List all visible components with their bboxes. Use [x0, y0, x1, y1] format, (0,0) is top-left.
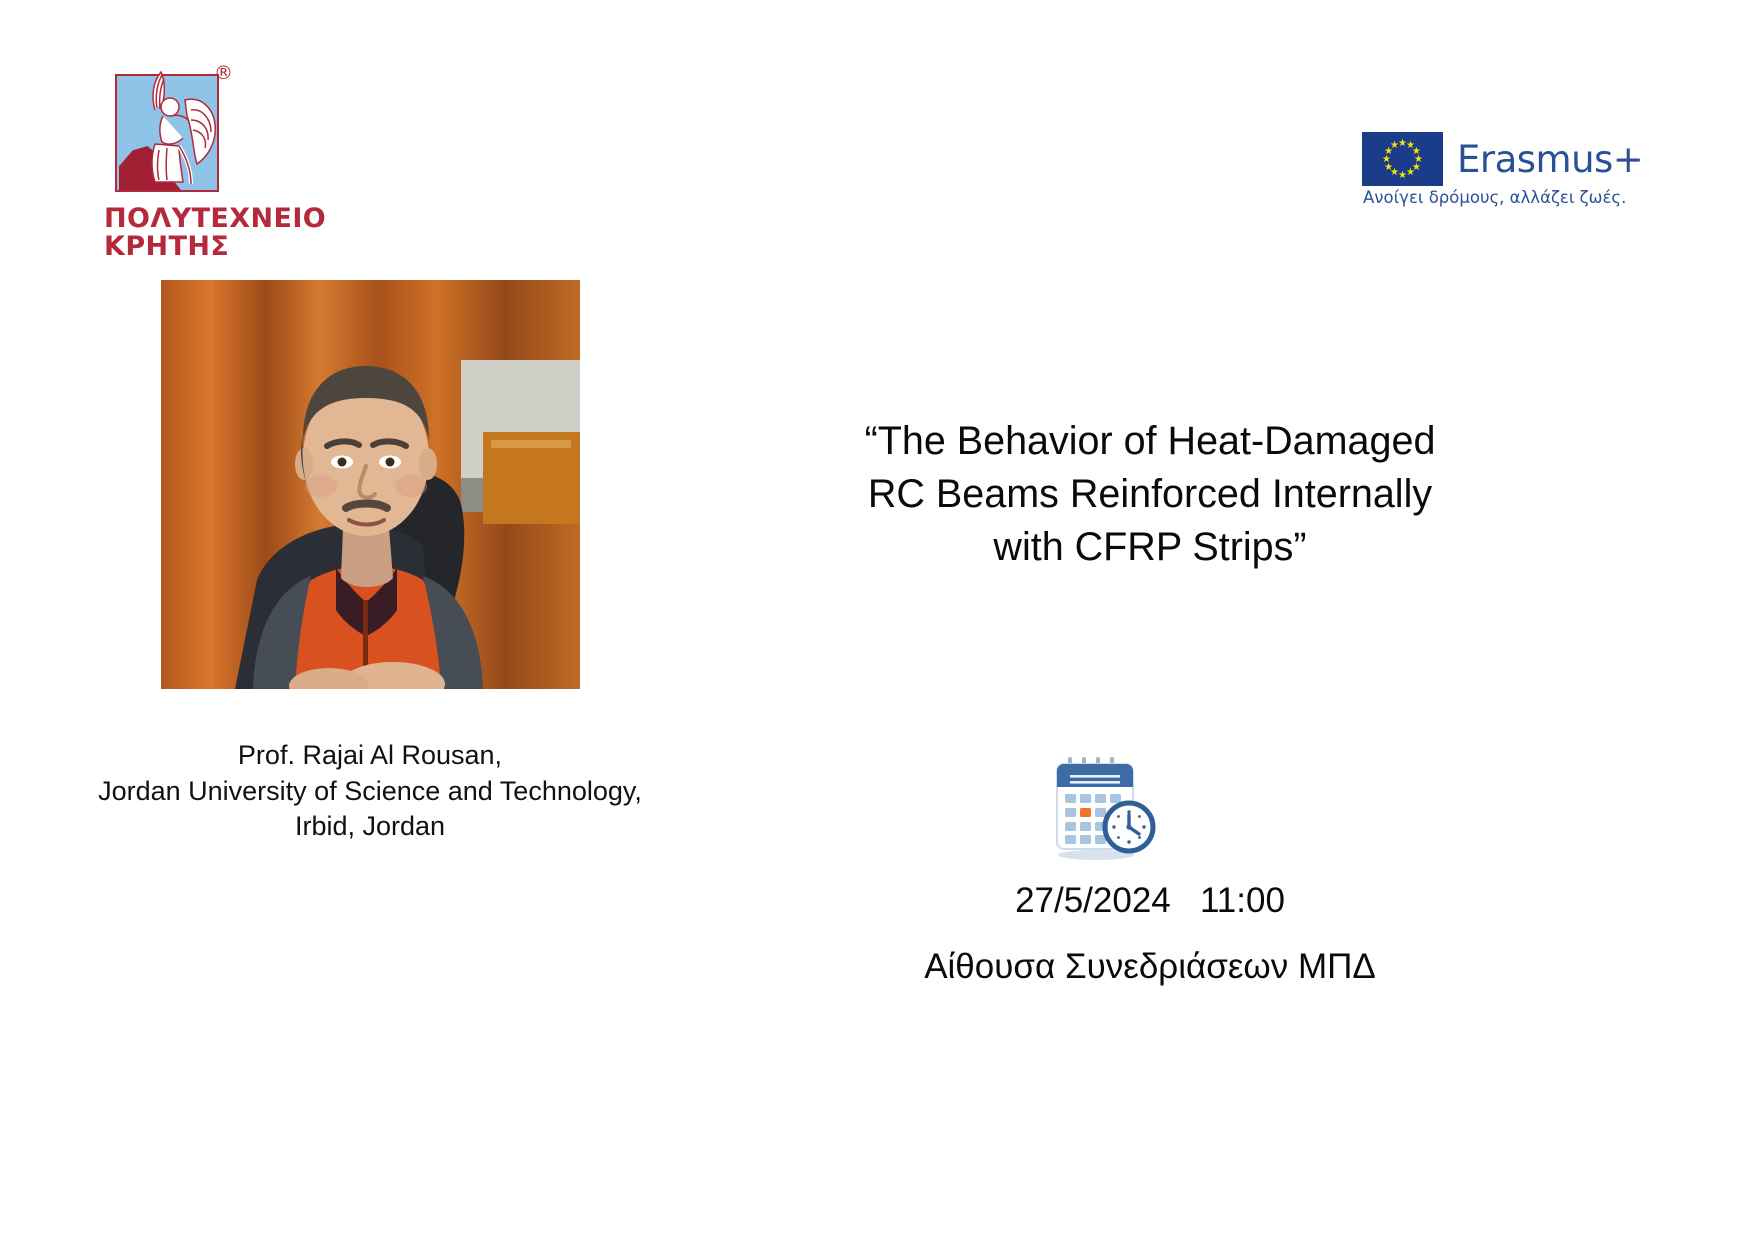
calendar-clock-icon	[1044, 755, 1160, 863]
speaker-caption: Prof. Rajai Al Rousan, Jordan University…	[40, 738, 700, 845]
university-name: ΠΟΛΥΤΕΧΝΕΙΟ ΚΡΗΤΗΣ	[104, 205, 330, 260]
daedalus-emblem-icon: ®	[115, 62, 225, 192]
eu-star-icon: ★	[1398, 171, 1407, 180]
talk-title-line1: “The Behavior of Heat-Damaged	[800, 415, 1500, 468]
speaker-affiliation: Jordan University of Science and Technol…	[40, 774, 700, 810]
eu-flag-icon: ★★★★★★★★★★★★	[1362, 132, 1443, 186]
university-name-line2: ΚΡΗΤΗΣ	[104, 233, 330, 261]
erasmus-wordmark: Erasmus+	[1457, 141, 1643, 178]
daedalus-figure-icon	[121, 66, 225, 192]
talk-title-line2: RC Beams Reinforced Internally	[800, 468, 1500, 521]
university-logo: ® ΠΟΛΥΤΕΧΝΕΙΟ ΚΡΗΤΗΣ	[100, 62, 330, 277]
speaker-name: Prof. Rajai Al Rousan,	[40, 738, 700, 774]
speaker-portrait-photo	[161, 280, 580, 689]
talk-title-line3: with CFRP Strips”	[800, 521, 1500, 574]
university-name-line1: ΠΟΛΥΤΕΧΝΕΙΟ	[104, 205, 330, 233]
highlighted-day-cell	[1080, 808, 1091, 817]
calendar-clock-graphic	[1044, 755, 1160, 863]
event-datetime: 27/5/2024 11:00	[830, 875, 1470, 928]
erasmus-logo: ★★★★★★★★★★★★ Erasmus+ Ανοίγει δρόμους, α…	[1362, 132, 1652, 207]
erasmus-tagline: Ανοίγει δρόμους, αλλάζει ζωές.	[1363, 188, 1652, 207]
event-venue: Αίθουσα Συνεδριάσεων ΜΠΔ	[830, 942, 1470, 991]
talk-title: “The Behavior of Heat-Damaged RC Beams R…	[800, 415, 1500, 574]
registered-trademark-icon: ®	[214, 64, 233, 83]
eu-star-icon: ★	[1406, 168, 1415, 177]
eu-star-icon: ★	[1390, 141, 1399, 150]
portrait-illustration	[161, 280, 580, 689]
speaker-location: Irbid, Jordan	[40, 809, 700, 845]
event-details: 27/5/2024 11:00 Αίθουσα Συνεδριάσεων ΜΠΔ	[830, 875, 1470, 991]
